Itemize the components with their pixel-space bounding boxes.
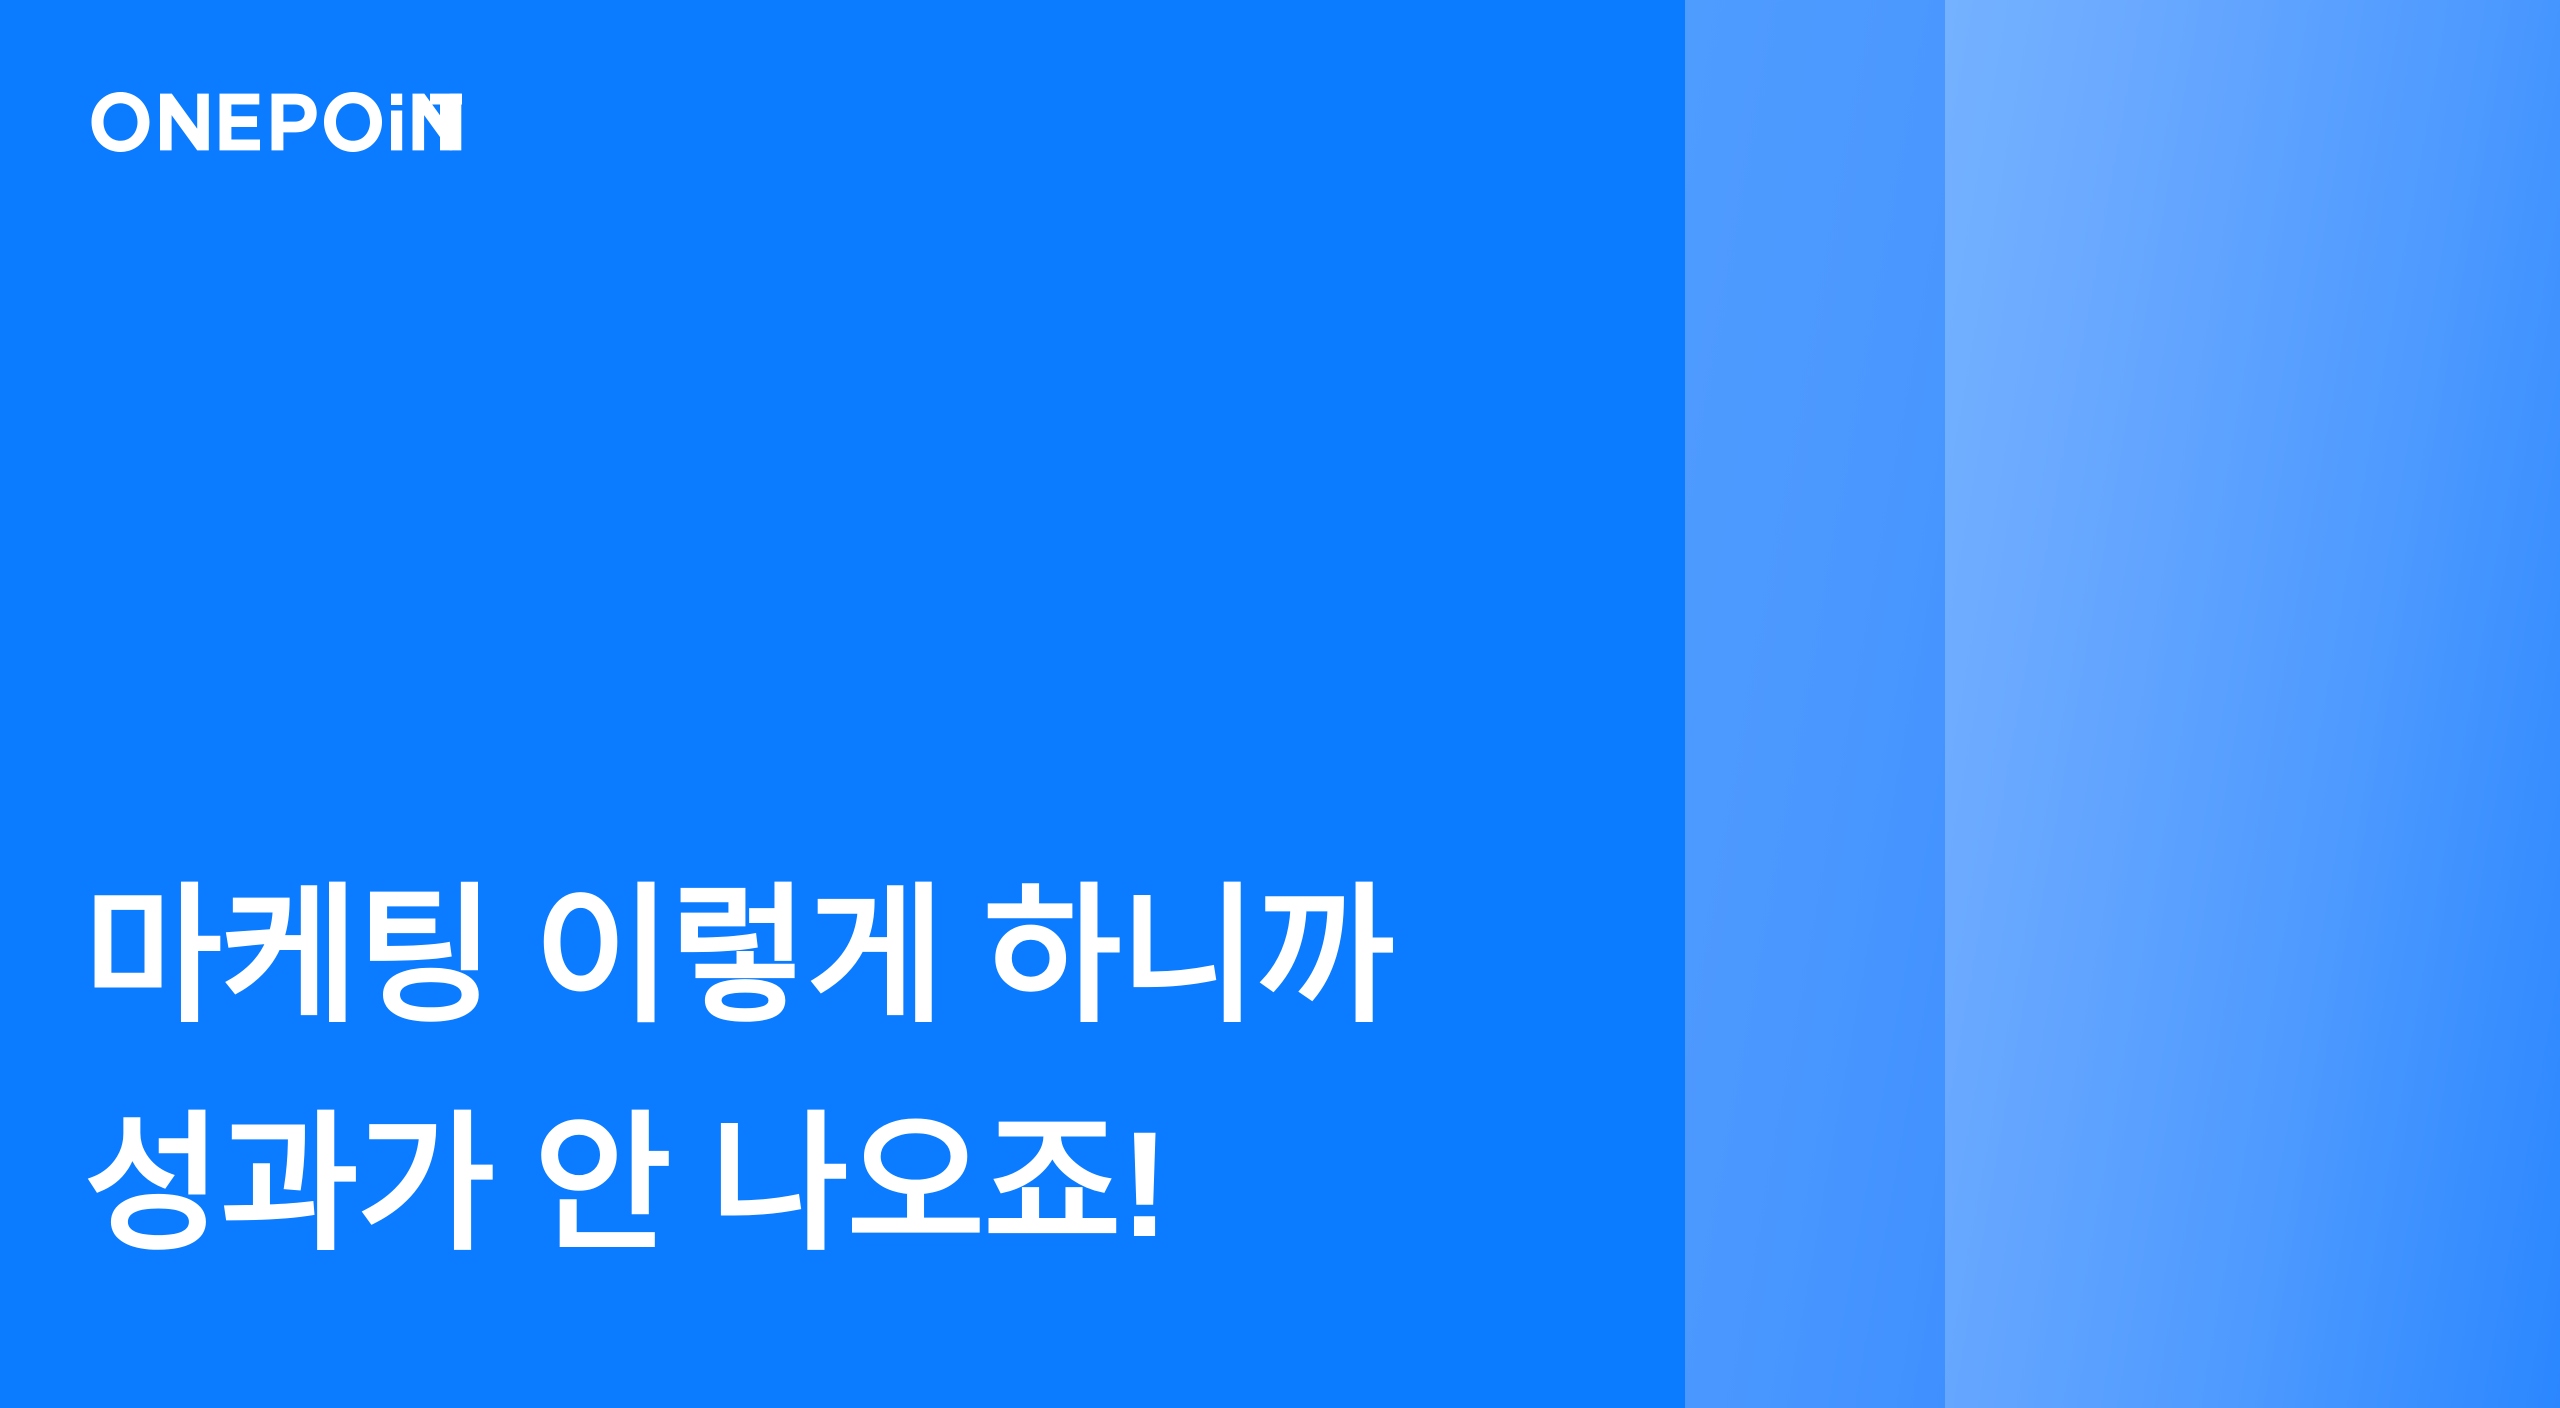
decorative-bands — [1685, 0, 2560, 1408]
headline-line-2: 성과가 안 나오죠! — [84, 1070, 1644, 1298]
band-light — [1945, 0, 2560, 1408]
onepoint-logo[interactable]: ONEPOiNT — [90, 92, 462, 152]
main-panel: ONEPOiNT 마케팅 이렇게 하니까 성과가 안 나오죠! — [0, 0, 1685, 1408]
headline-line-1: 마케팅 이렇게 하니까 — [84, 842, 1644, 1070]
band-mid — [1685, 0, 1945, 1408]
slide-canvas: ONEPOiNT 마케팅 이렇게 하니까 성과가 안 나오죠! — [0, 0, 2560, 1408]
page-title: 마케팅 이렇게 하니까 성과가 안 나오죠! — [84, 842, 1644, 1298]
